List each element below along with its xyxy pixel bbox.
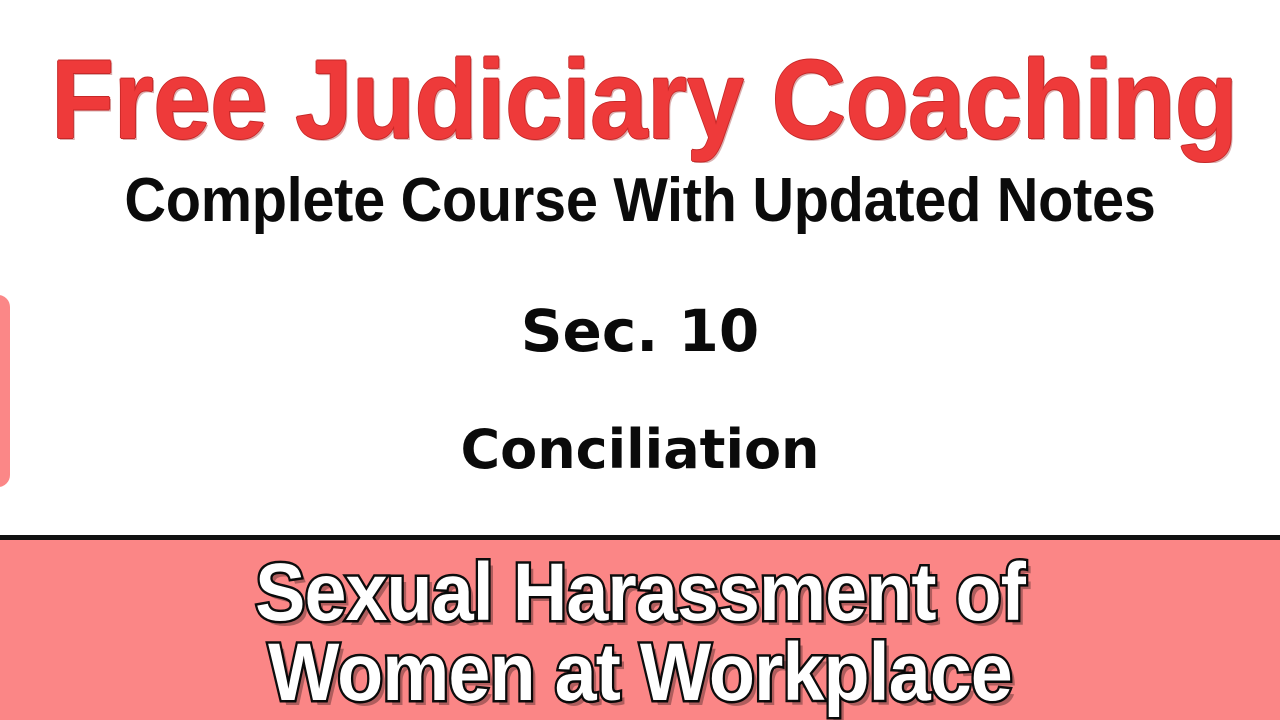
brand-subtitle: Complete Course With Updated Notes xyxy=(45,165,1235,236)
brand-title: Free Judiciary Coaching xyxy=(51,38,1229,161)
slide-canvas: Free Judiciary Coaching Complete Course … xyxy=(0,0,1280,720)
left-edge-tab-decoration xyxy=(0,295,10,487)
section-label: Sec. 10 xyxy=(0,300,1280,364)
topic-banner: Sexual Harassment of Women at Workplace xyxy=(0,540,1280,720)
topic-banner-line-1: Sexual Harassment of xyxy=(51,552,1229,634)
title-section: Free Judiciary Coaching Complete Course … xyxy=(0,0,1280,537)
section-topic: Conciliation xyxy=(0,420,1280,479)
topic-banner-line-2: Women at Workplace xyxy=(51,632,1229,714)
